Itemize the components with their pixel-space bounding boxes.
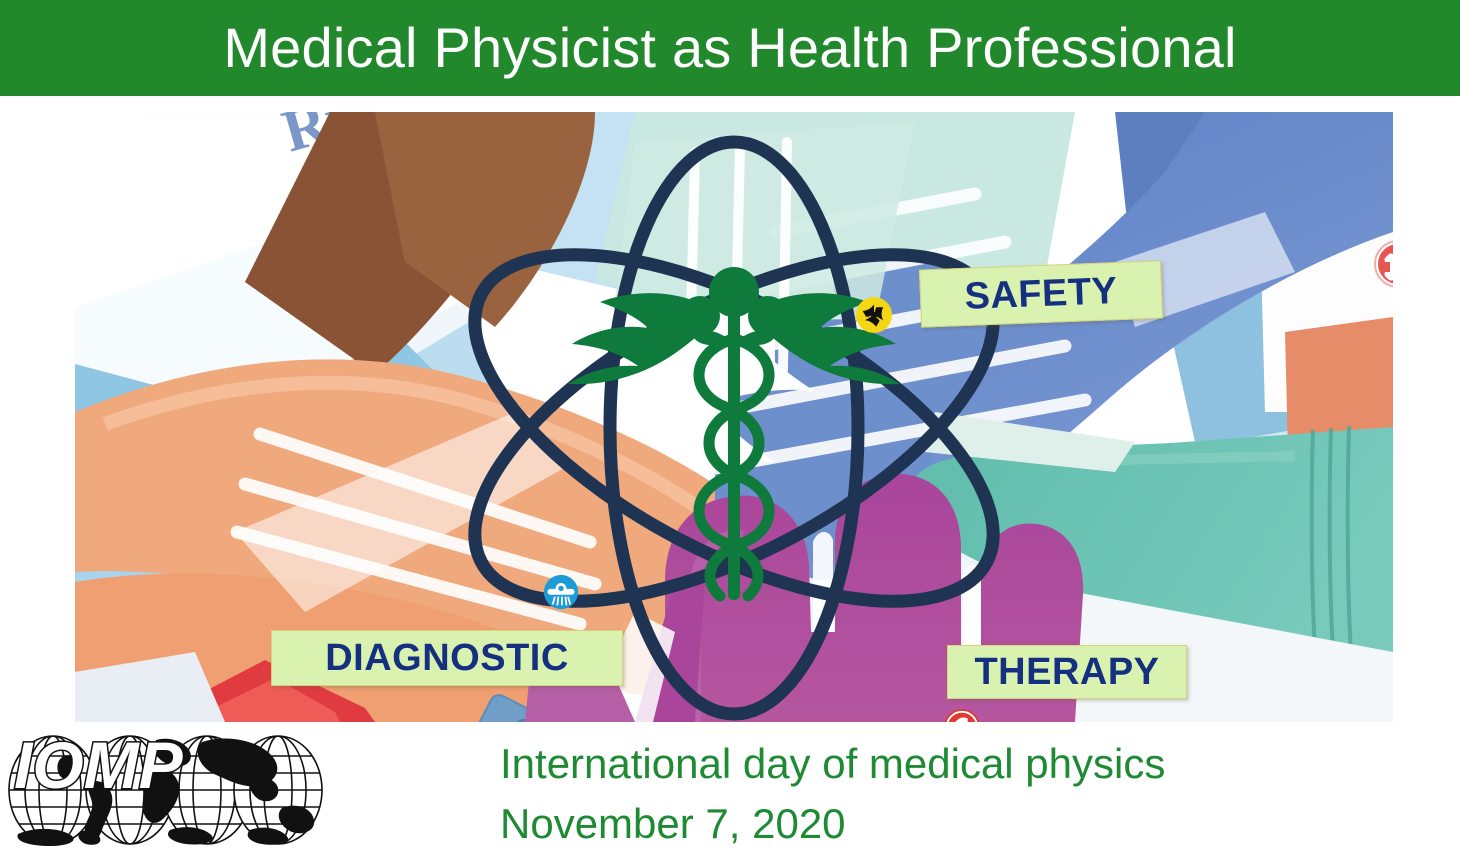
label-safety: SAFETY (919, 260, 1163, 327)
iomp-logo-artwork: IOMP (6, 726, 326, 850)
iomp-logo: IOMP (6, 726, 326, 850)
footer-event-line: International day of medical physics (500, 734, 1400, 794)
hands-atom-illustration: Rx (75, 112, 1393, 722)
slide-canvas: Medical Physicist as Health Professional (0, 0, 1460, 862)
iomp-wordmark: IOMP (14, 728, 184, 802)
title-banner: Medical Physicist as Health Professional (0, 0, 1460, 96)
label-diagnostic: DIAGNOSTIC (271, 630, 623, 686)
page-title: Medical Physicist as Health Professional (223, 20, 1236, 76)
label-therapy: THERAPY (947, 645, 1187, 699)
footer-date-line: November 7, 2020 (500, 794, 1400, 854)
xray-imaging-icon (543, 574, 579, 610)
radiation-trefoil-icon (855, 296, 893, 334)
footer-caption: International day of medical physics Nov… (500, 734, 1400, 853)
